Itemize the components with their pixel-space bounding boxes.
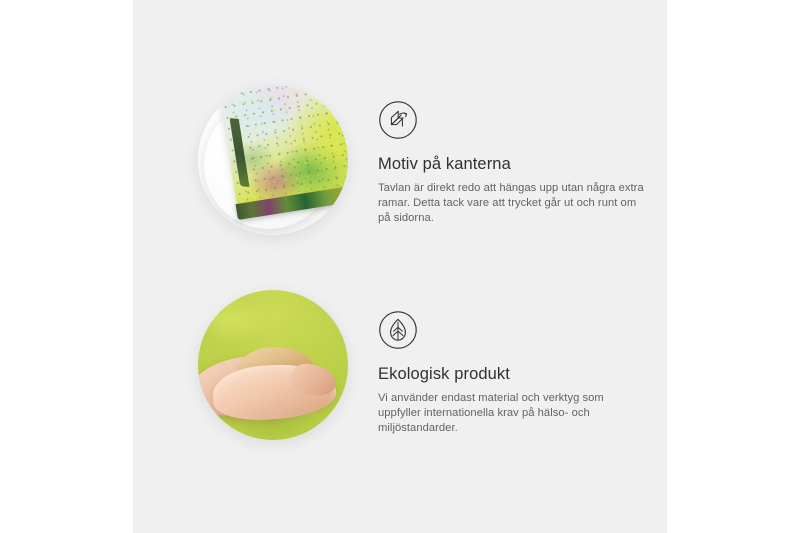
canvas-print-corner-photo <box>198 85 348 235</box>
canvas-wrapped-edge-icon <box>378 100 418 140</box>
feature-block-edges: Motiv på kanterna Tavlan är direkt redo … <box>133 60 667 260</box>
feature-copy-edges: Motiv på kanterna Tavlan är direkt redo … <box>378 100 658 226</box>
product-feature-infographic: Motiv på kanterna Tavlan är direkt redo … <box>0 0 800 533</box>
hands-holding-wood-chips-photo <box>198 290 348 440</box>
feature-block-eco: Ekologisk produkt Vi använder endast mat… <box>133 265 667 465</box>
feature-description-eco: Vi använder endast material och verktyg … <box>378 391 646 437</box>
feature-title-eco: Ekologisk produkt <box>378 364 658 385</box>
feature-description-edges: Tavlan är direkt redo att hängas upp uta… <box>378 181 646 227</box>
content-panel: Motiv på kanterna Tavlan är direkt redo … <box>133 0 667 533</box>
leaf-icon <box>378 310 418 350</box>
feature-copy-eco: Ekologisk produkt Vi använder endast mat… <box>378 310 658 436</box>
feature-title-edges: Motiv på kanterna <box>378 154 658 175</box>
